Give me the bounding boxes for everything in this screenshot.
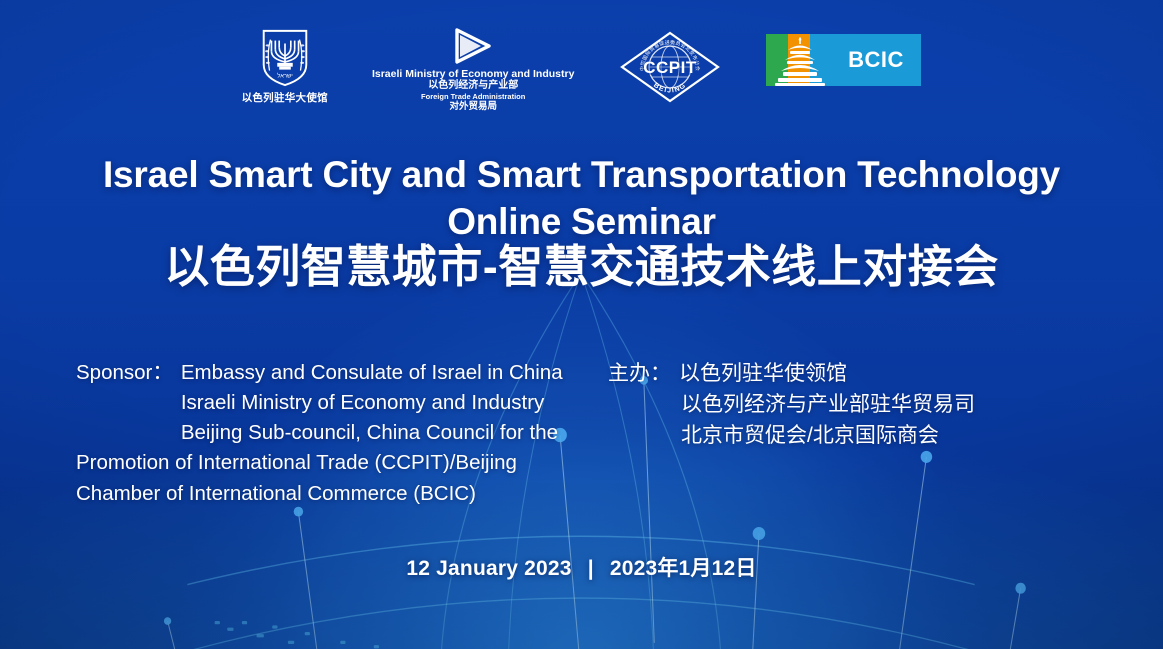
ccpit-diamond-globe-icon: 中国国际贸易促进委员会北京市分会 CCPIT BEIJING bbox=[618, 30, 722, 104]
moe-line-cn-2: 对外贸易局 bbox=[449, 101, 497, 112]
sponsor-cn-line-1: 以色列驻华使领馆 bbox=[671, 358, 847, 389]
moe-line-cn-1: 以色列经济与产业部 bbox=[428, 80, 518, 92]
sponsor-row-2: Sponsor： Israeli Ministry of Economy and… bbox=[76, 388, 576, 418]
logo-israel-ministry-economy: Israeli Ministry of Economy and Industry… bbox=[372, 26, 574, 113]
sponsor-en-line-1: Embassy and Consulate of Israel in China bbox=[173, 358, 563, 388]
moe-line-en-1: Israeli Ministry of Economy and Industry bbox=[372, 68, 574, 80]
sponsor-cn-line-3: 北京市贸促会/北京国际商会 bbox=[608, 420, 1038, 451]
logo-bcic: BCIC bbox=[766, 34, 921, 86]
logo-ccpit-beijing: 中国国际贸易促进委员会北京市分会 CCPIT BEIJING bbox=[618, 30, 722, 104]
title-english-line2: Online Seminar bbox=[0, 199, 1163, 246]
sponsor-row-1: Sponsor： Embassy and Consulate of Israel… bbox=[76, 358, 576, 388]
event-date-separator: | bbox=[578, 557, 604, 580]
event-date-chinese: 2023年1月12日 bbox=[610, 557, 757, 580]
sponsor-label-en: Sponsor： bbox=[76, 358, 173, 388]
title-english-line1: Israel Smart City and Smart Transportati… bbox=[0, 152, 1163, 199]
title-english: Israel Smart City and Smart Transportati… bbox=[0, 152, 1163, 245]
svg-text:CCPIT: CCPIT bbox=[644, 58, 698, 77]
sponsor-en-cont-1: Promotion of International Trade (CCPIT)… bbox=[76, 448, 576, 478]
event-date-english: 12 January 2023 bbox=[406, 557, 571, 580]
seminar-poster: ישראל 以色列驻华大使馆 Israeli Ministry of Econo… bbox=[0, 0, 1163, 649]
title-chinese: 以色列智慧城市-智慧交通技术线上对接会 bbox=[0, 243, 1163, 292]
play-triangle-icon bbox=[450, 26, 496, 66]
israel-state-emblem-icon: ישראל bbox=[259, 28, 311, 88]
sponsor-cn-line-2: 以色列经济与产业部驻华贸易司 bbox=[608, 389, 1038, 420]
sponsor-en-line-2: Israeli Ministry of Economy and Industry bbox=[173, 388, 544, 418]
bcic-pagoda-icon: BCIC bbox=[766, 34, 921, 86]
logo-israel-embassy: ישראל 以色列驻华大使馆 bbox=[242, 28, 328, 105]
sponsor-label-cn: 主办： bbox=[608, 358, 671, 389]
sponsor-en-line-3: Beijing Sub-council, China Council for t… bbox=[173, 418, 558, 448]
event-date: 12 January 2023 | 2023年1月12日 bbox=[0, 552, 1163, 582]
svg-text:ישראל: ישראל bbox=[277, 72, 293, 79]
logo-israel-embassy-caption: 以色列驻华大使馆 bbox=[242, 90, 328, 105]
sponsor-cn-row-1: 主办： 以色列驻华使领馆 bbox=[608, 358, 1038, 389]
sponsor-en-cont-2: Chamber of International Commerce (BCIC) bbox=[76, 479, 576, 509]
sponsor-logo-bar: ישראל 以色列驻华大使馆 Israeli Ministry of Econo… bbox=[0, 28, 1163, 108]
sponsor-block-chinese: 主办： 以色列驻华使领馆 以色列经济与产业部驻华贸易司 北京市贸促会/北京国际商… bbox=[608, 358, 1038, 451]
bcic-wordmark: BCIC bbox=[849, 47, 905, 72]
sponsor-block-english: Sponsor： Embassy and Consulate of Israel… bbox=[76, 358, 576, 509]
sponsor-row-3: Sponsor： Beijing Sub-council, China Coun… bbox=[76, 418, 576, 448]
